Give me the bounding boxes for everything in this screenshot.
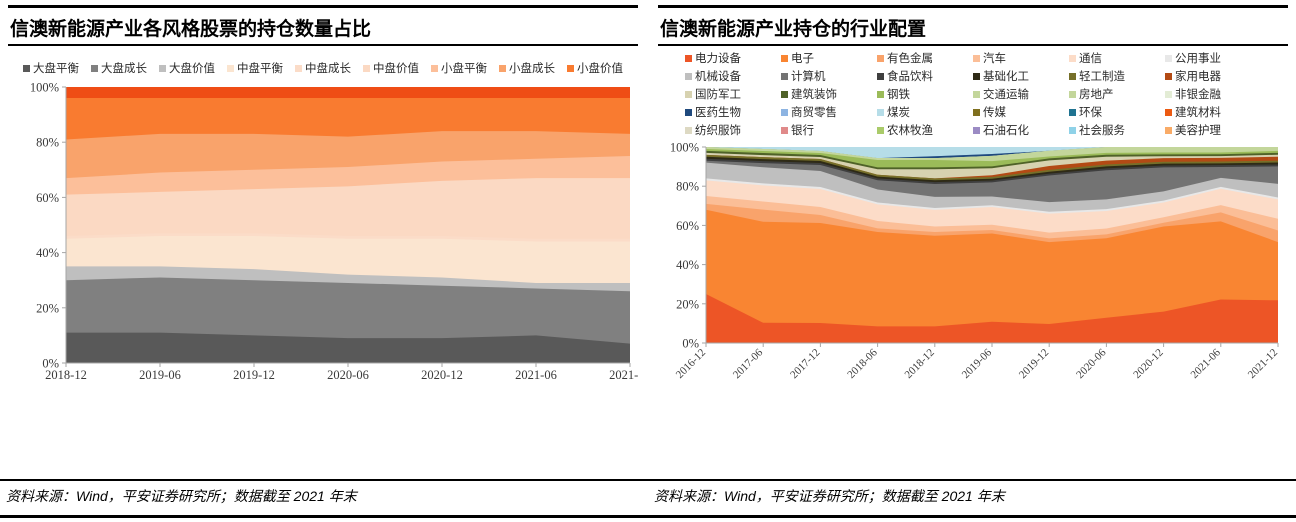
legend-label: 中盘成长: [305, 60, 351, 76]
x-axis-tick-label: 2019-12: [233, 368, 275, 382]
y-axis-tick-label: 80%: [676, 180, 699, 194]
legend-swatch-icon: [973, 127, 980, 134]
legend-label: 国防军工: [695, 86, 741, 102]
legend-label: 建筑装饰: [791, 86, 837, 102]
legend-swatch-icon: [1165, 109, 1172, 116]
legend-label: 机械设备: [695, 68, 741, 84]
legend-label: 电力设备: [695, 50, 741, 66]
x-axis-tick-label: 2017-12: [788, 347, 822, 381]
legend-swatch-icon: [499, 65, 506, 72]
legend-label: 房地产: [1079, 86, 1114, 102]
x-axis-tick-label: 2016-12: [674, 347, 708, 381]
legend-label: 大盘价值: [169, 60, 215, 76]
legend-item: 国防军工: [685, 86, 781, 102]
legend-swatch-icon: [1165, 91, 1172, 98]
legend-item: 纺织服饰: [685, 122, 781, 138]
legend-swatch-icon: [91, 65, 98, 72]
legend-swatch-icon: [685, 91, 692, 98]
legend-swatch-icon: [781, 91, 788, 98]
y-axis-tick-label: 20%: [676, 297, 699, 311]
legend-item: 交通运输: [973, 86, 1069, 102]
legend-item: 小盘平衡: [431, 60, 487, 76]
legend-swatch-icon: [1165, 127, 1172, 134]
legend-label: 公用事业: [1175, 50, 1221, 66]
x-axis-tick-label: 2020-06: [327, 368, 369, 382]
legend-item: 电子: [781, 50, 877, 66]
y-axis-tick-label: 40%: [676, 258, 699, 272]
legend-swatch-icon: [781, 73, 788, 80]
legend-item: 大盘平衡: [23, 60, 79, 76]
legend-swatch-icon: [227, 65, 234, 72]
legend-swatch-icon: [1165, 73, 1172, 80]
legend-label: 电子: [791, 50, 814, 66]
legend-swatch-icon: [781, 55, 788, 62]
legend-swatch-icon: [23, 65, 30, 72]
legend-item: 食品饮料: [877, 68, 973, 84]
legend-item: 房地产: [1069, 86, 1165, 102]
x-axis-tick-label: 2020-06: [1074, 346, 1109, 381]
left-footer-bottom-rule: [0, 515, 648, 518]
legend-swatch-icon: [685, 127, 692, 134]
legend-item: 计算机: [781, 68, 877, 84]
legend-label: 食品饮料: [887, 68, 933, 84]
two-panel-figure: 信澳新能源产业各风格股票的持仓数量占比 大盘平衡大盘成长大盘价值中盘平衡中盘成长…: [0, 0, 1296, 522]
y-axis-tick-label: 60%: [36, 191, 59, 205]
legend-item: 中盘成长: [295, 60, 351, 76]
legend-swatch-icon: [973, 55, 980, 62]
legend-label: 纺织服饰: [695, 122, 741, 138]
legend-swatch-icon: [1069, 91, 1076, 98]
legend-swatch-icon: [1165, 55, 1172, 62]
legend-swatch-icon: [877, 109, 884, 116]
legend-item: 大盘成长: [91, 60, 147, 76]
legend-swatch-icon: [781, 109, 788, 116]
y-axis-tick-label: 40%: [36, 246, 59, 260]
x-axis-tick-label: 2018-12: [903, 347, 937, 381]
right-stacked-area-chart: 0%20%40%60%80%100%2016-122017-062017-122…: [658, 139, 1288, 401]
legend-swatch-icon: [159, 65, 166, 72]
legend-item: 非银金融: [1165, 86, 1261, 102]
legend-label: 石油石化: [983, 122, 1029, 138]
x-axis-tick-label: 2017-06: [731, 346, 766, 381]
legend-item: 轻工制造: [1069, 68, 1165, 84]
legend-label: 轻工制造: [1079, 68, 1125, 84]
legend-label: 非银金融: [1175, 86, 1221, 102]
left-chart-area: 0%20%40%60%80%100%2018-122019-062019-122…: [8, 79, 638, 394]
legend-item: 传媒: [973, 104, 1069, 120]
legend-swatch-icon: [877, 73, 884, 80]
legend-item: 美容护理: [1165, 122, 1261, 138]
legend-label: 环保: [1079, 104, 1102, 120]
legend-item: 农林牧渔: [877, 122, 973, 138]
legend-item: 小盘成长: [499, 60, 555, 76]
legend-item: 有色金属: [877, 50, 973, 66]
legend-label: 小盘成长: [509, 60, 555, 76]
x-axis-tick-label: 2018-12: [45, 368, 87, 382]
legend-swatch-icon: [685, 73, 692, 80]
y-axis-tick-label: 100%: [670, 141, 699, 155]
legend-swatch-icon: [877, 91, 884, 98]
x-axis-tick-label: 2021-12: [609, 368, 638, 382]
legend-item: 钢铁: [877, 86, 973, 102]
legend-swatch-icon: [567, 65, 574, 72]
legend-item: 医药生物: [685, 104, 781, 120]
legend-swatch-icon: [295, 65, 302, 72]
legend-label: 美容护理: [1175, 122, 1221, 138]
x-axis-tick-label: 2019-12: [1017, 347, 1051, 381]
x-axis-tick-label: 2021-06: [515, 368, 557, 382]
right-panel-footer: 资料来源：Wind，平安证券研究所；数据截至 2021 年末: [648, 479, 1296, 518]
legend-item: 商贸零售: [781, 104, 877, 120]
y-axis-tick-label: 80%: [36, 136, 59, 150]
right-footer-bottom-rule: [648, 515, 1296, 518]
legend-swatch-icon: [973, 109, 980, 116]
x-axis-tick-label: 2019-06: [960, 346, 995, 381]
right-source-note: 资料来源：Wind，平安证券研究所；数据截至 2021 年末: [648, 481, 1296, 510]
legend-label: 大盘成长: [101, 60, 147, 76]
legend-item: 小盘价值: [567, 60, 623, 76]
legend-swatch-icon: [781, 127, 788, 134]
legend-swatch-icon: [431, 65, 438, 72]
legend-label: 传媒: [983, 104, 1006, 120]
legend-label: 基础化工: [983, 68, 1029, 84]
legend-item: 大盘价值: [159, 60, 215, 76]
right-chart-area: 0%20%40%60%80%100%2016-122017-062017-122…: [658, 139, 1288, 406]
legend-swatch-icon: [1069, 127, 1076, 134]
legend-label: 通信: [1079, 50, 1102, 66]
legend-item: 社会服务: [1069, 122, 1165, 138]
legend-swatch-icon: [1069, 73, 1076, 80]
legend-item: 机械设备: [685, 68, 781, 84]
left-panel-title: 信澳新能源产业各风格股票的持仓数量占比: [8, 8, 638, 44]
x-axis-tick-label: 2020-12: [1131, 347, 1165, 381]
legend-label: 交通运输: [983, 86, 1029, 102]
legend-label: 中盘平衡: [237, 60, 283, 76]
x-axis-tick-label: 2021-12: [1246, 347, 1280, 381]
legend-label: 中盘价值: [373, 60, 419, 76]
left-stacked-area-chart: 0%20%40%60%80%100%2018-122019-062019-122…: [8, 79, 638, 389]
legend-swatch-icon: [1069, 55, 1076, 62]
legend-label: 汽车: [983, 50, 1006, 66]
legend-item: 通信: [1069, 50, 1165, 66]
legend-swatch-icon: [685, 55, 692, 62]
x-axis-tick-label: 2019-06: [139, 368, 181, 382]
legend-item: 建筑材料: [1165, 104, 1261, 120]
legend-item: 中盘平衡: [227, 60, 283, 76]
x-axis-tick-label: 2018-06: [845, 346, 880, 381]
left-source-note: 资料来源：Wind，平安证券研究所；数据截至 2021 年末: [0, 481, 648, 510]
legend-label: 医药生物: [695, 104, 741, 120]
legend-label: 计算机: [791, 68, 826, 84]
legend-item: 汽车: [973, 50, 1069, 66]
legend-label: 建筑材料: [1175, 104, 1221, 120]
legend-label: 小盘价值: [577, 60, 623, 76]
x-axis-tick-label: 2021-06: [1189, 346, 1224, 381]
left-chart-legend: 大盘平衡大盘成长大盘价值中盘平衡中盘成长中盘价值小盘平衡小盘成长小盘价值: [8, 46, 638, 79]
legend-item: 公用事业: [1165, 50, 1261, 66]
legend-item: 基础化工: [973, 68, 1069, 84]
legend-label: 钢铁: [887, 86, 910, 102]
y-axis-tick-label: 100%: [30, 81, 59, 95]
legend-swatch-icon: [363, 65, 370, 72]
legend-label: 有色金属: [887, 50, 933, 66]
legend-item: 环保: [1069, 104, 1165, 120]
legend-item: 银行: [781, 122, 877, 138]
left-panel-footer: 资料来源：Wind，平安证券研究所；数据截至 2021 年末: [0, 479, 648, 518]
right-panel-title: 信澳新能源产业持仓的行业配置: [658, 8, 1288, 44]
legend-label: 家用电器: [1175, 68, 1221, 84]
legend-label: 社会服务: [1079, 122, 1125, 138]
legend-label: 农林牧渔: [887, 122, 933, 138]
legend-swatch-icon: [877, 127, 884, 134]
legend-swatch-icon: [973, 73, 980, 80]
right-chart-panel: 信澳新能源产业持仓的行业配置 电力设备电子有色金属汽车通信公用事业机械设备计算机…: [648, 0, 1296, 522]
legend-swatch-icon: [877, 55, 884, 62]
legend-label: 大盘平衡: [33, 60, 79, 76]
legend-swatch-icon: [1069, 109, 1076, 116]
legend-swatch-icon: [685, 109, 692, 116]
legend-item: 家用电器: [1165, 68, 1261, 84]
legend-label: 小盘平衡: [441, 60, 487, 76]
legend-item: 电力设备: [685, 50, 781, 66]
legend-item: 煤炭: [877, 104, 973, 120]
legend-item: 建筑装饰: [781, 86, 877, 102]
legend-item: 石油石化: [973, 122, 1069, 138]
y-axis-tick-label: 20%: [36, 301, 59, 315]
x-axis-tick-label: 2020-12: [421, 368, 463, 382]
y-axis-tick-label: 60%: [676, 219, 699, 233]
legend-item: 中盘价值: [363, 60, 419, 76]
legend-label: 商贸零售: [791, 104, 837, 120]
legend-label: 煤炭: [887, 104, 910, 120]
right-chart-legend: 电力设备电子有色金属汽车通信公用事业机械设备计算机食品饮料基础化工轻工制造家用电…: [658, 46, 1288, 139]
legend-label: 银行: [791, 122, 814, 138]
legend-swatch-icon: [973, 91, 980, 98]
left-chart-panel: 信澳新能源产业各风格股票的持仓数量占比 大盘平衡大盘成长大盘价值中盘平衡中盘成长…: [0, 0, 648, 522]
